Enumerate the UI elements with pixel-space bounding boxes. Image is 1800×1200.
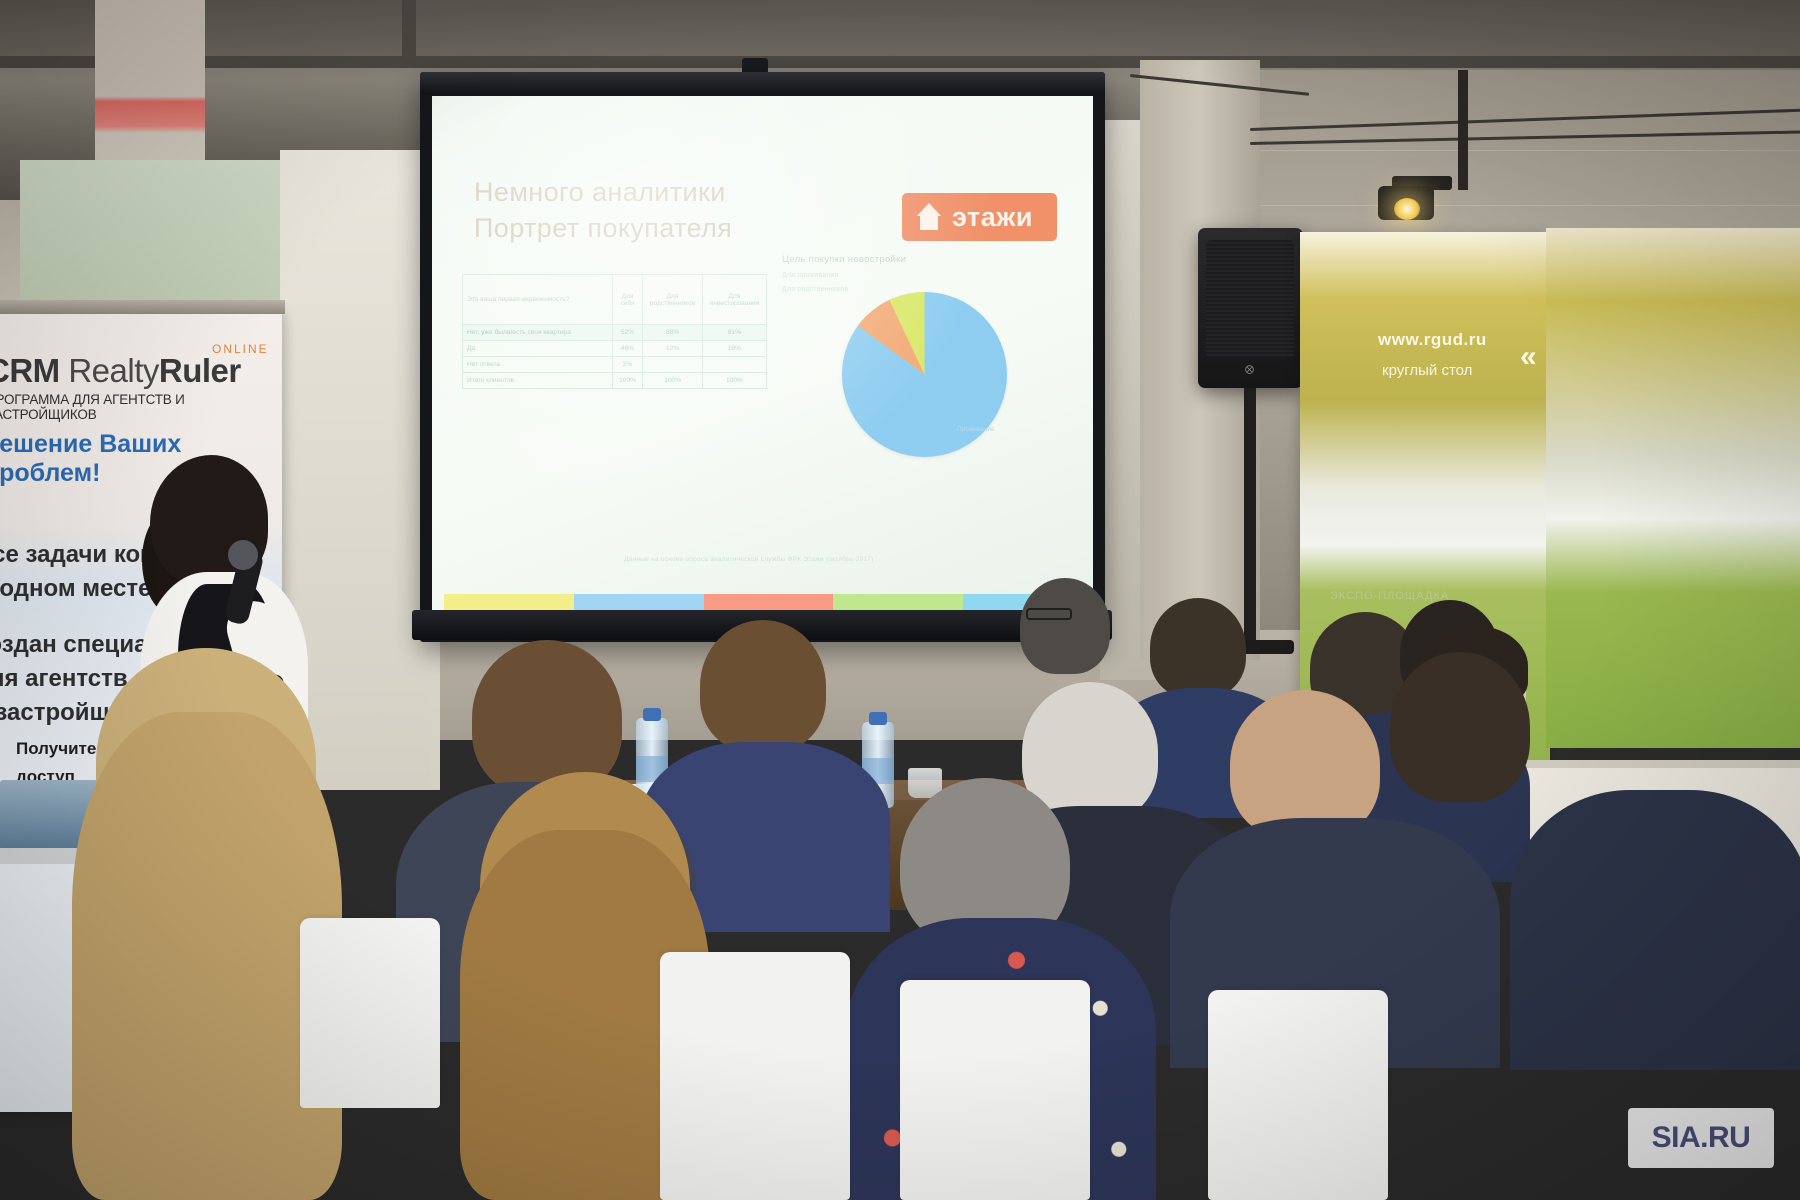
cell-value: 81% bbox=[702, 325, 766, 341]
column-header-question: Это ваша первая недвижимость? bbox=[463, 275, 613, 325]
cell-value: 100% bbox=[643, 373, 703, 389]
cell-value: 100% bbox=[613, 373, 643, 389]
wall-accent-stripe bbox=[95, 0, 205, 175]
table-row: Итого клиентов 100% 100% 100% bbox=[463, 373, 767, 389]
slide-footnote: Данные на основе опроса аналитической сл… bbox=[624, 556, 874, 563]
watermark-text: SIA.RU bbox=[1652, 1121, 1751, 1155]
table-head: Это ваша первая недвижимость? Для себя Д… bbox=[463, 275, 767, 325]
microphone-head bbox=[228, 540, 258, 570]
row-label: Да bbox=[463, 341, 613, 357]
brand-ruler: Ruler bbox=[159, 352, 241, 389]
pie-annotation: Проживание bbox=[957, 426, 995, 433]
cell-value: 19% bbox=[702, 341, 766, 357]
screen-top-bar bbox=[420, 72, 1105, 94]
slide-title: Немного аналитики Портрет покупателя bbox=[474, 174, 732, 246]
banner-subtitle: ПРОГРАММА ДЛЯ АГЕНТСТВ И ЗАСТРОЙЩИКОВ bbox=[0, 392, 286, 422]
banner-brand: CRM RealtyRuler bbox=[0, 352, 286, 390]
cell-value: 2% bbox=[613, 357, 643, 373]
column-header-relatives: Для родственников bbox=[643, 275, 703, 325]
cell-value: 12% bbox=[643, 341, 703, 357]
speaker-grill bbox=[1206, 240, 1294, 358]
row-label: Нет ответа bbox=[463, 357, 613, 373]
table-row: Нет ответа 2% bbox=[463, 357, 767, 373]
audience-member bbox=[700, 620, 826, 752]
pie-chart-block: Цель покупки новостройки Для проживания … bbox=[782, 254, 1072, 504]
audience-suit bbox=[1510, 790, 1800, 1070]
lamp-pole bbox=[1458, 70, 1468, 190]
ceiling-slab bbox=[0, 0, 1800, 60]
brick-line bbox=[1260, 150, 1800, 151]
speaker-brand-logo: ⨂ bbox=[1232, 364, 1268, 376]
brick-line bbox=[1260, 205, 1800, 206]
row-label: Итого клиентов bbox=[463, 373, 613, 389]
quote-mark-icon: « bbox=[1520, 340, 1537, 374]
lamp-bulb bbox=[1394, 198, 1420, 220]
etazhi-logo-text: этажи bbox=[952, 202, 1033, 233]
cell-value: 100% bbox=[702, 373, 766, 389]
buyer-profile-table: Это ваша первая недвижимость? Для себя Д… bbox=[462, 274, 767, 389]
cell-value: 52% bbox=[613, 325, 643, 341]
column-header-self: Для себя bbox=[613, 275, 643, 325]
table-header-row: Это ваша первая недвижимость? Для себя Д… bbox=[463, 275, 767, 325]
table-row: Да 46% 12% 19% bbox=[463, 341, 767, 357]
cell-value: 88% bbox=[643, 325, 703, 341]
chart-legend-item: Для проживания bbox=[782, 272, 1072, 279]
audience-member bbox=[1150, 598, 1246, 698]
chair[interactable] bbox=[660, 952, 850, 1200]
banner-online-tag: ONLINE bbox=[212, 342, 269, 356]
chair[interactable] bbox=[900, 980, 1090, 1200]
watermark: SIA.RU bbox=[1628, 1108, 1774, 1168]
banner-rail bbox=[0, 300, 285, 314]
bottle-cap bbox=[643, 708, 661, 721]
audience-glasses-icon bbox=[1026, 608, 1072, 620]
speaker-stand bbox=[1244, 388, 1256, 648]
table-body: Нет, уже была/есть своя квартира 52% 88%… bbox=[463, 325, 767, 389]
audience-member bbox=[1020, 578, 1110, 674]
audience-member bbox=[1390, 652, 1530, 802]
brand-crm: CRM bbox=[0, 352, 68, 389]
cell-value bbox=[643, 357, 703, 373]
bottle-cap bbox=[869, 712, 887, 725]
chart-title: Цель покупки новостройки bbox=[782, 254, 1072, 265]
column-header-investment: Для инвестирования bbox=[702, 275, 766, 325]
banner-url: www.rgud.ru bbox=[1378, 330, 1487, 350]
house-icon bbox=[914, 203, 944, 231]
brand-realty: Realty bbox=[68, 352, 159, 389]
etazhi-logo: этажи bbox=[902, 193, 1057, 241]
chair[interactable] bbox=[300, 918, 440, 1108]
cell-value: 46% bbox=[613, 341, 643, 357]
row-label: Нет, уже была/есть своя квартира bbox=[463, 325, 613, 341]
screenshot-root: ⨂ Немного аналитики Портрет покупателя э… bbox=[0, 0, 1800, 1200]
banner-faint-text: ЭКСПО-ПЛОЩАДКА bbox=[1330, 590, 1449, 602]
cell-value bbox=[702, 357, 766, 373]
ceiling-beam bbox=[0, 56, 1800, 68]
chair[interactable] bbox=[1208, 990, 1388, 1200]
table-row: Нет, уже была/есть своя квартира 52% 88%… bbox=[463, 325, 767, 341]
projected-slide: Немного аналитики Портрет покупателя эта… bbox=[432, 96, 1093, 612]
banner-rgud-secondary bbox=[1546, 228, 1800, 748]
ceiling-beam bbox=[402, 0, 416, 60]
banner-event-label: круглый стол bbox=[1382, 362, 1472, 379]
